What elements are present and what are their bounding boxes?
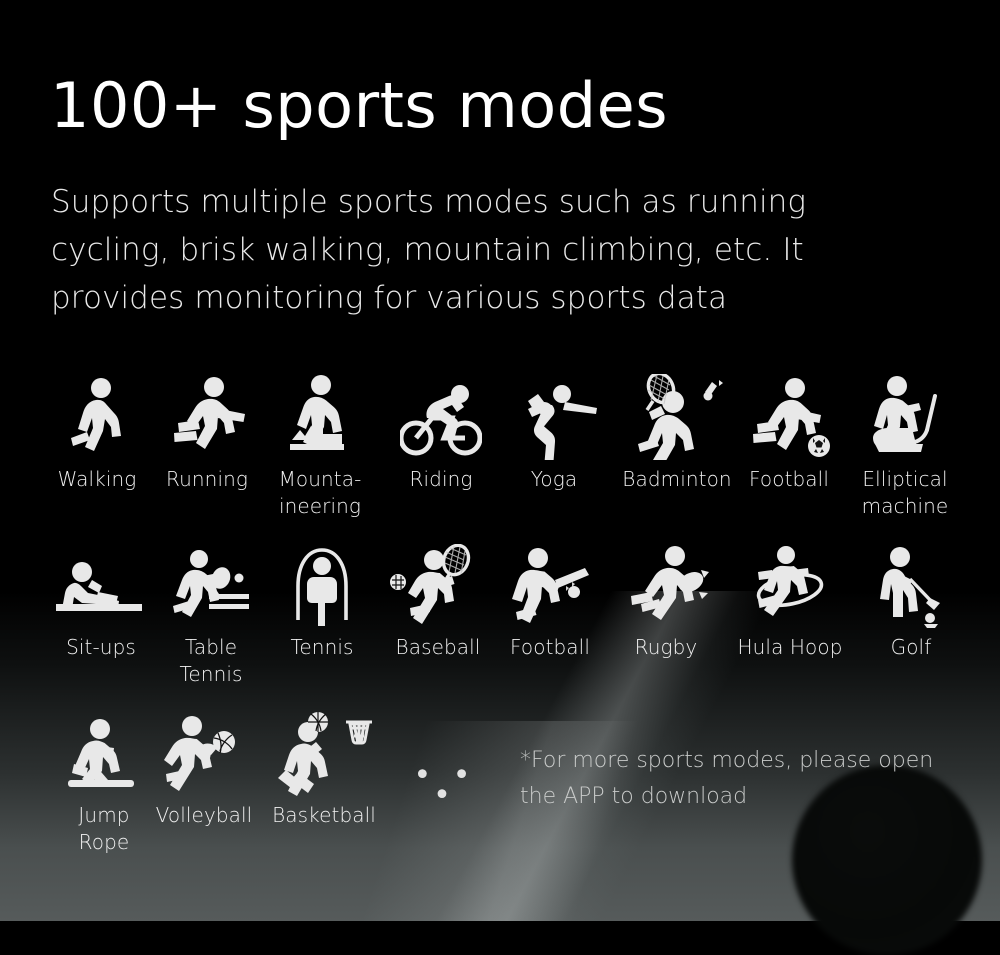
- subtitle-line-3: provides monitoring for various sports d…: [51, 274, 871, 322]
- jump-rope-step-icon: [48, 708, 160, 796]
- cycling-icon: [385, 372, 497, 460]
- sport-label: Football: [736, 466, 842, 493]
- sport-label: Baseball: [382, 634, 494, 661]
- sport-item-tennis[interactable]: Tennis: [266, 540, 378, 661]
- sports-row-2: Sit-ups: [0, 540, 1000, 708]
- sport-item-baseball[interactable]: Baseball: [382, 540, 494, 661]
- sport-item-basketball[interactable]: Basketball: [258, 708, 390, 829]
- yoga-icon: [498, 372, 610, 460]
- subtitle-line-1: Supports multiple sports modes such as r…: [51, 178, 871, 226]
- sport-label: Ellipticalmachine: [845, 466, 965, 520]
- sports-modes-page: 100+ sports modes Supports multiple spor…: [0, 0, 1000, 921]
- sport-item-yoga[interactable]: Yoga: [498, 372, 610, 493]
- more-sports-ellipsis: • • •: [410, 766, 480, 806]
- sport-item-table-tennis[interactable]: TableTennis: [155, 540, 267, 688]
- sport-item-hula-hoop[interactable]: Hula Hoop: [727, 540, 853, 661]
- sports-grid: Walking Running: [0, 372, 1000, 868]
- page-subtitle: Supports multiple sports modes such as r…: [51, 178, 871, 322]
- sport-label: Badminton: [617, 466, 737, 493]
- mountaineering-icon: [264, 372, 376, 460]
- sport-item-football-1[interactable]: Football: [736, 372, 842, 493]
- sport-label: Riding: [385, 466, 497, 493]
- sport-item-badminton[interactable]: Badminton: [617, 372, 737, 493]
- tennis-icon: [382, 540, 494, 628]
- hula-hoop-icon: [727, 540, 853, 628]
- basketball-icon: [258, 708, 390, 796]
- sport-item-riding[interactable]: Riding: [385, 372, 497, 493]
- sport-label: Volleyball: [148, 802, 260, 829]
- sport-item-walking[interactable]: Walking: [41, 372, 153, 493]
- running-icon: [151, 372, 263, 460]
- sport-label: Football: [494, 634, 606, 661]
- sport-item-rugby[interactable]: Rugby: [610, 540, 722, 661]
- sport-label: Walking: [41, 466, 153, 493]
- sport-item-volleyball[interactable]: Volleyball: [148, 708, 260, 829]
- note-line-1: *For more sports modes, please open: [520, 743, 950, 779]
- sport-item-golf[interactable]: Golf: [855, 540, 967, 661]
- elliptical-machine-icon: [845, 372, 965, 460]
- subtitle-line-2: cycling, brisk walking, mountain climbin…: [51, 226, 871, 274]
- baseball-icon: [494, 540, 606, 628]
- sport-item-mountaineering[interactable]: Mounta-ineering: [264, 372, 376, 520]
- note-line-2: the APP to download: [520, 779, 950, 815]
- walking-icon: [41, 372, 153, 460]
- sport-item-elliptical-machine[interactable]: Ellipticalmachine: [845, 372, 965, 520]
- table-tennis-icon: [155, 540, 267, 628]
- sport-label: Running: [151, 466, 263, 493]
- rugby-icon: [610, 540, 722, 628]
- page-title: 100+ sports modes: [50, 68, 668, 144]
- sport-label: Rugby: [610, 634, 722, 661]
- football-icon: [736, 372, 842, 460]
- more-sports-note: *For more sports modes, please open the …: [520, 743, 950, 815]
- sport-label: Golf: [855, 634, 967, 661]
- sports-row-3: JumpRope: [0, 708, 1000, 868]
- sit-ups-icon: [45, 540, 157, 628]
- badminton-icon: [617, 372, 737, 460]
- sport-label: Hula Hoop: [727, 634, 853, 661]
- sport-item-jump-rope[interactable]: JumpRope: [48, 708, 160, 856]
- sport-item-sit-ups[interactable]: Sit-ups: [45, 540, 157, 661]
- sport-label: TableTennis: [155, 634, 267, 688]
- sport-label: Yoga: [498, 466, 610, 493]
- sport-label: Tennis: [266, 634, 378, 661]
- sport-label: Mounta-ineering: [264, 466, 376, 520]
- sport-label-text: Mounta-ineering: [279, 467, 362, 518]
- sport-item-running[interactable]: Running: [151, 372, 263, 493]
- volleyball-icon: [148, 708, 260, 796]
- jump-rope-icon: [266, 540, 378, 628]
- sports-row-1: Walking Running: [0, 372, 1000, 540]
- sport-item-football-2[interactable]: Football: [494, 540, 606, 661]
- sport-label: Sit-ups: [45, 634, 157, 661]
- sport-label: Basketball: [258, 802, 390, 829]
- golf-icon: [855, 540, 967, 628]
- sport-label: JumpRope: [48, 802, 160, 856]
